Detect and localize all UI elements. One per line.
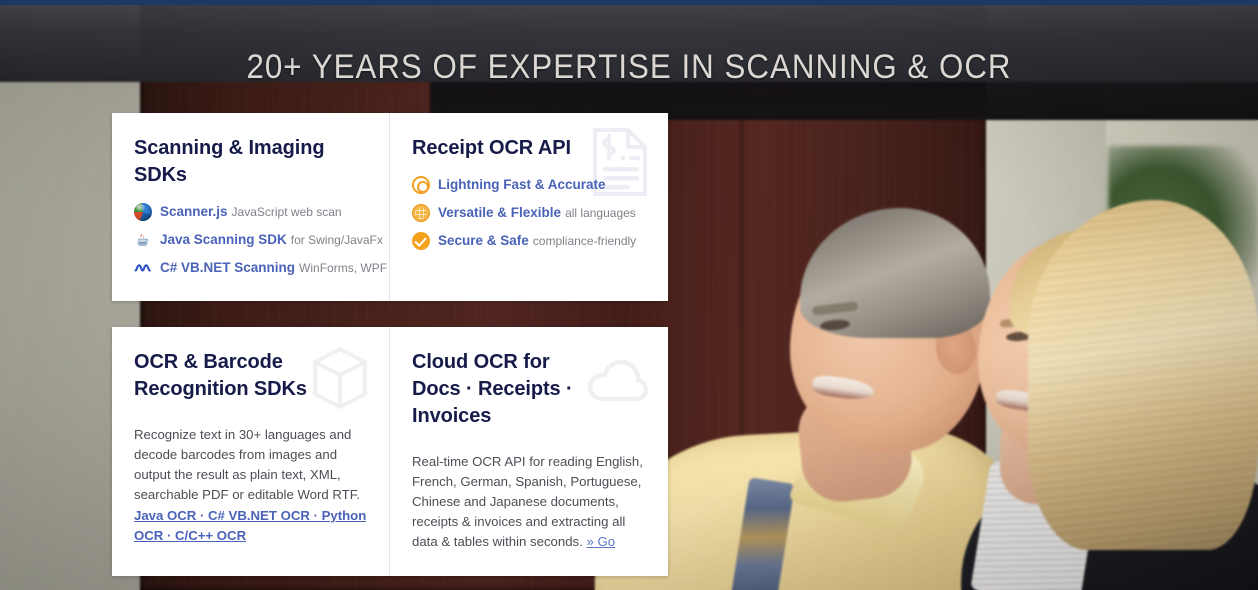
top-navy-bar [0,0,1258,5]
globe-color-icon [134,203,152,221]
feature-sublabel: compliance-friendly [533,234,636,248]
ocr-product-links[interactable]: Java OCR · C# VB.NET OCR · Python OCR · … [134,506,367,546]
feature-label: Secure & Safe [438,233,529,249]
feature-sublabel: for Swing/JavaFx [291,233,383,247]
page-headline: 20+ YEARS OF EXPERTISE IN SCANNING & OCR [50,48,1207,87]
feature-label: Lightning Fast & Accurate [438,177,606,193]
check-circle-icon [412,232,430,250]
feature-cards: Scanning & Imaging SDKs Scanner.js JavaS… [112,113,668,576]
feature-row-secure-safe[interactable]: Secure & Safe compliance-friendly [412,232,644,250]
hero-section: 20+ YEARS OF EXPERTISE IN SCANNING & OCR… [0,0,1258,590]
feature-sublabel: WinForms, WPF [299,261,387,275]
card-block-bottom: OCR & Barcode Recognition SDKs Recognize… [112,327,668,576]
feature-row-lightning-fast[interactable]: Lightning Fast & Accurate [412,176,644,194]
wave-icon [134,259,152,277]
feature-row-scannerjs[interactable]: Scanner.js JavaScript web scan [134,203,367,221]
card-scanning-imaging-sdks: Scanning & Imaging SDKs Scanner.js JavaS… [112,113,389,301]
card-ocr-barcode-recognition-sdks: OCR & Barcode Recognition SDKs Recognize… [112,327,389,576]
card-title: Receipt OCR API [412,135,644,162]
target-icon [412,176,430,194]
feature-row-csharp-vbnet-scanning[interactable]: C# VB.NET Scanning WinForms, WPF [134,259,367,277]
feature-row-versatile-flexible[interactable]: Versatile & Flexible all languages [412,204,644,222]
feature-sublabel: JavaScript web scan [232,205,342,219]
card-body-text: Real-time OCR API for reading English, F… [412,452,644,552]
card-cloud-ocr: Cloud OCR for Docs · Receipts · Invoices… [389,327,666,576]
card-receipt-ocr-api: Receipt OCR API Lightning Fast & Accurat… [389,113,666,301]
go-link[interactable]: » Go [586,534,615,549]
card-title: Cloud OCR for Docs · Receipts · Invoices [412,349,602,430]
card-block-top: Scanning & Imaging SDKs Scanner.js JavaS… [112,113,668,301]
card-title: OCR & Barcode Recognition SDKs [134,349,324,403]
feature-row-java-scanning-sdk[interactable]: Java Scanning SDK for Swing/JavaFx [134,231,367,249]
feature-label: Versatile & Flexible [438,205,561,221]
feature-label: Scanner.js [160,204,228,220]
java-cup-icon [134,231,152,249]
globe-orange-icon [412,204,430,222]
card-body-text: Recognize text in 30+ languages and deco… [134,425,367,546]
card-title: Scanning & Imaging SDKs [134,135,367,189]
feature-label: C# VB.NET Scanning [160,260,295,276]
feature-label: Java Scanning SDK [160,232,287,248]
feature-sublabel: all languages [565,206,636,220]
person-woman-hair [1028,200,1258,550]
card-description: Recognize text in 30+ languages and deco… [134,427,360,502]
